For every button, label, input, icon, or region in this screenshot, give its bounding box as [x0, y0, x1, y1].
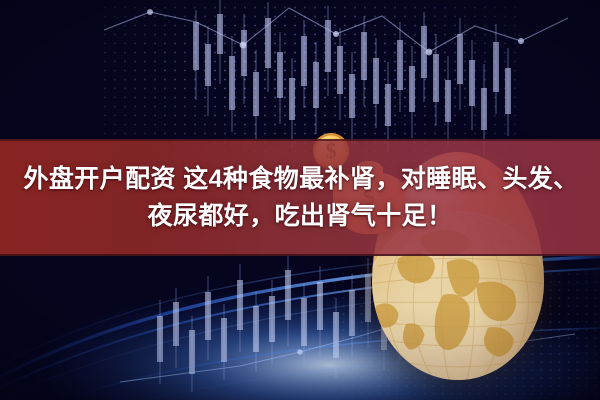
caption-text: 外盘开户配资 这4种食物最补肾，对睡眠、头发、 夜尿都好，吃出肾气十足！ [0, 146, 600, 250]
egg-shadow-bottom [372, 307, 544, 380]
caption-line-1: 外盘开户配资 这4种食物最补肾，对睡眠、头发、 [0, 163, 600, 196]
caption-band-top-edge [0, 139, 600, 141]
caption-line-2: 夜尿都好，吃出肾气十足！ [148, 200, 453, 233]
thumbnail-canvas: $ $ 外盘开户配资 这4种食物最补肾，对睡眠、头发、 夜尿都好，吃出肾气十足！ [0, 0, 600, 400]
caption-band-bottom-edge [0, 254, 600, 256]
